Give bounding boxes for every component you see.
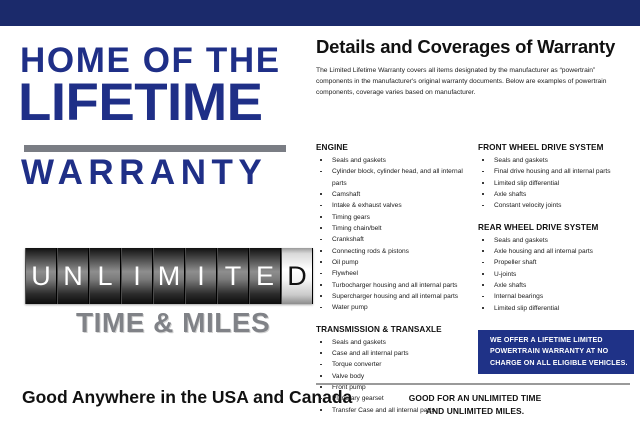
section-heading: REAR WHEEL DRIVE SYSTEM: [478, 223, 634, 232]
top-navy-bar: [0, 0, 640, 26]
coverage-list-item: Seals and gaskets: [316, 337, 476, 348]
headline-divider-rule: [24, 145, 286, 152]
footer-divider-rule: [316, 383, 630, 385]
details-title: Details and Coverages of Warranty: [316, 38, 615, 57]
odometer-cell: I: [185, 248, 217, 304]
coverage-list-item: Supercharger housing and all internal pa…: [316, 291, 476, 302]
callout-box: WE OFFER A LIFETIME LIMITED POWERTRAIN W…: [478, 330, 634, 374]
coverage-list-item: Timing chain/belt: [316, 223, 476, 234]
coverage-list-item: Turbocharger housing and all internal pa…: [316, 280, 476, 291]
coverage-list-item: Oil pump: [316, 257, 476, 268]
coverage-list-item: U-joints: [478, 269, 634, 280]
coverage-list-item: Flywheel: [316, 268, 476, 279]
coverage-list-item: Axle shafts: [478, 189, 634, 200]
coverage-list-item: Seals and gaskets: [316, 155, 476, 166]
coverage-list: Seals and gasketsAxle housing and all in…: [478, 235, 634, 314]
coverage-list-item: Final drive housing and all internal par…: [478, 166, 634, 177]
coverage-list-item: Axle shafts: [478, 280, 634, 291]
coverage-list-item: Propeller shaft: [478, 257, 634, 268]
odometer-cell: D: [281, 248, 313, 304]
coverage-list-item: Cylinder block, cylinder head, and all i…: [316, 166, 476, 189]
coverage-column-right: FRONT WHEEL DRIVE SYSTEMSeals and gasket…: [478, 143, 634, 314]
left-branding-panel: HOME OF THE LIFETIME WARRANTY UNLIMITED …: [0, 26, 305, 426]
coverage-list-item: Internal bearings: [478, 291, 634, 302]
footer-line-2: AND UNLIMITED MILES.: [316, 405, 634, 418]
odometer-cell: M: [153, 248, 185, 304]
coverage-list: Seals and gasketsCylinder block, cylinde…: [316, 155, 476, 314]
coverage-list-item: Intake & exhaust valves: [316, 200, 476, 211]
coverage-list-item: Water pump: [316, 302, 476, 313]
coverage-list-item: Limited slip differential: [478, 178, 634, 189]
coverage-list-item: Valve body: [316, 371, 476, 382]
odometer-subtitle: TIME & MILES: [76, 309, 270, 337]
odometer-cell: I: [121, 248, 153, 304]
coverage-list-item: Torque converter: [316, 359, 476, 370]
coverage-area-tagline: Good Anywhere in the USA and Canada: [22, 389, 352, 407]
details-intro-paragraph: The Limited Lifetime Warranty covers all…: [316, 66, 632, 99]
coverage-list-item: Camshaft: [316, 189, 476, 200]
coverage-list-item: Limited slip differential: [478, 303, 634, 314]
footer-line-1: GOOD FOR AN UNLIMITED TIME: [316, 392, 634, 405]
section-heading: ENGINE: [316, 143, 476, 152]
coverage-list-item: Case and all internal parts: [316, 348, 476, 359]
coverage-column-left: ENGINESeals and gasketsCylinder block, c…: [316, 143, 476, 416]
odometer-graphic: UNLIMITED: [25, 248, 313, 304]
footer-note: GOOD FOR AN UNLIMITED TIME AND UNLIMITED…: [316, 392, 634, 417]
coverage-list-item: Connecting rods & pistons: [316, 246, 476, 257]
right-details-panel: Details and Coverages of Warranty The Li…: [316, 26, 634, 426]
odometer-cell: U: [25, 248, 57, 304]
coverage-list-item: Crankshaft: [316, 234, 476, 245]
callout-text: WE OFFER A LIFETIME LIMITED POWERTRAIN W…: [490, 335, 634, 369]
headline-warranty: WARRANTY: [21, 155, 267, 190]
section-heading: TRANSMISSION & TRANSAXLE: [316, 325, 476, 334]
coverage-list-item: Seals and gaskets: [478, 235, 634, 246]
coverage-list-item: Axle housing and all internal parts: [478, 246, 634, 257]
coverage-list-item: Constant velocity joints: [478, 200, 634, 211]
odometer-cell: L: [89, 248, 121, 304]
coverage-list: Seals and gasketsFinal drive housing and…: [478, 155, 634, 212]
headline-lifetime: LIFETIME: [18, 76, 263, 129]
coverage-list-item: Seals and gaskets: [478, 155, 634, 166]
odometer-cell: E: [249, 248, 281, 304]
coverage-list-item: Timing gears: [316, 212, 476, 223]
section-heading: FRONT WHEEL DRIVE SYSTEM: [478, 143, 634, 152]
odometer-cell: N: [57, 248, 89, 304]
odometer-cell: T: [217, 248, 249, 304]
warranty-poster: HOME OF THE LIFETIME WARRANTY UNLIMITED …: [0, 0, 640, 426]
